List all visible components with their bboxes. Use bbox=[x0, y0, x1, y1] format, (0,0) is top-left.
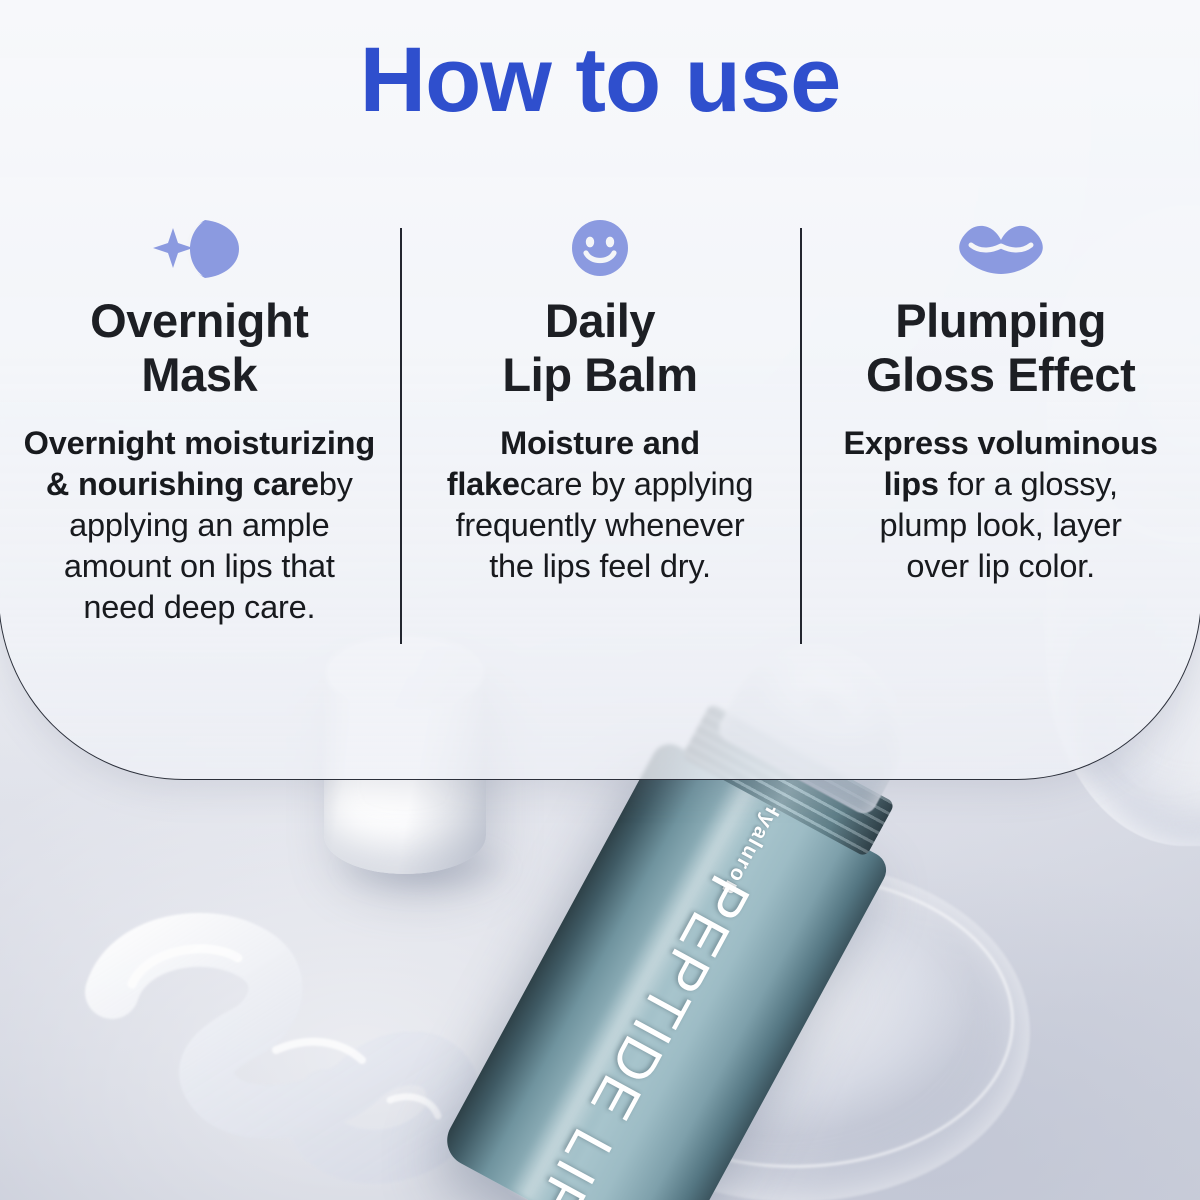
tube-product-name-text: PEPTIDE LIP bbox=[521, 865, 763, 1200]
column-heading: Overnight Mask bbox=[90, 294, 308, 401]
how-to-use-column-daily-lip-balm: Daily Lip Balm Moisture and flakecare by… bbox=[400, 212, 801, 660]
crescent-moon-sparkle-icon bbox=[147, 212, 251, 284]
page-title: How to use bbox=[0, 32, 1200, 129]
how-to-use-column-overnight-mask: Overnight Mask Overnight moisturizing & … bbox=[0, 212, 400, 660]
column-body: Moisture and flakecare by applying frequ… bbox=[435, 423, 765, 587]
instruction-card: How to use Overnight Mask Overnight mois… bbox=[0, 0, 1200, 780]
column-body: Overnight moisturizing & nourishing care… bbox=[23, 423, 375, 628]
how-to-use-columns: Overnight Mask Overnight moisturizing & … bbox=[0, 212, 1200, 660]
lips-icon bbox=[955, 212, 1047, 284]
how-to-use-column-plumping-gloss: Plumping Gloss Effect Express voluminous… bbox=[800, 212, 1200, 660]
product-infographic-scene: Hyaluron PEPTIDE LIP How to use Ove bbox=[0, 0, 1200, 1200]
gel-swirl bbox=[40, 900, 500, 1200]
smiley-face-icon bbox=[568, 212, 632, 284]
column-heading: Plumping Gloss Effect bbox=[866, 294, 1135, 401]
column-body: Express voluminous lips for a glossy, pl… bbox=[844, 423, 1158, 587]
column-heading: Daily Lip Balm bbox=[502, 294, 697, 401]
